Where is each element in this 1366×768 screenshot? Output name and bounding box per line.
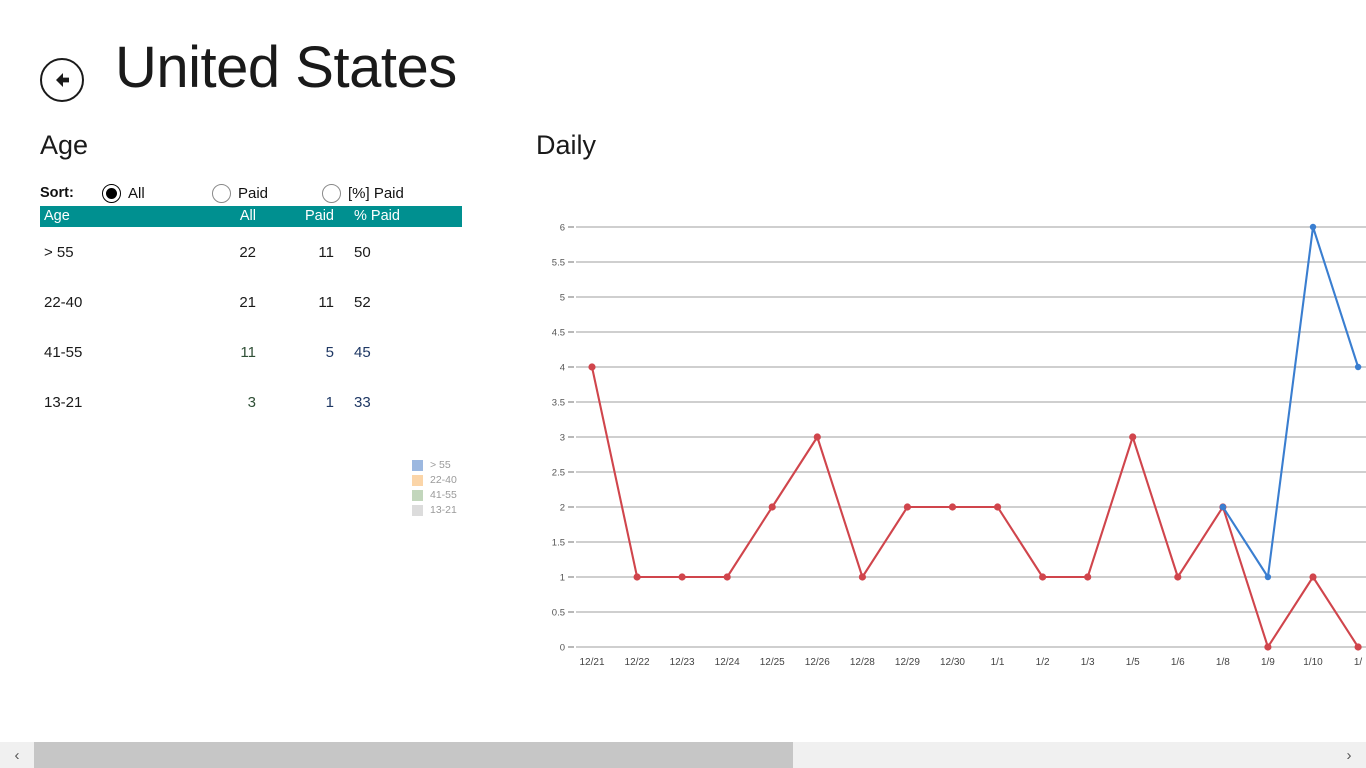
column-header-age[interactable]: Age	[40, 206, 180, 227]
data-point-red[interactable]	[1309, 573, 1316, 580]
y-axis-tick-label: 3.5	[552, 398, 565, 409]
cell-pct-paid: 45	[346, 327, 462, 377]
x-axis-tick-label: 1/	[1354, 657, 1363, 668]
x-axis-tick-label: 1/1	[991, 657, 1005, 668]
cell-age: > 55	[40, 227, 180, 277]
y-axis-tick-label: 4	[560, 363, 565, 374]
data-point-red[interactable]	[724, 573, 731, 580]
sort-option-all[interactable]: All	[102, 184, 212, 203]
legend-label: 22-40	[430, 474, 457, 486]
scroll-left-arrow-icon[interactable]: ‹	[0, 742, 34, 768]
legend-swatch-icon	[412, 475, 423, 486]
y-axis-tick-label: 1.5	[552, 538, 565, 549]
age-section-title: Age	[40, 132, 88, 159]
legend-label: 41-55	[430, 489, 457, 501]
x-axis-tick-label: 1/10	[1303, 657, 1323, 668]
cell-paid: 5	[268, 327, 346, 377]
y-axis-tick-label: 6	[560, 223, 565, 234]
x-axis-tick-label: 1/6	[1171, 657, 1185, 668]
page-title: United States	[115, 36, 457, 100]
x-axis-tick-label: 12/22	[625, 657, 650, 668]
sort-radio-group: Sort: All Paid [%] Paid	[40, 182, 442, 204]
y-axis-tick-label: 5	[560, 293, 565, 304]
back-button[interactable]	[40, 58, 84, 102]
x-axis-tick-label: 1/5	[1126, 657, 1140, 668]
data-point-red[interactable]	[1039, 573, 1046, 580]
sort-option-pct-paid-label: [%] Paid	[348, 185, 404, 202]
sort-option-paid[interactable]: Paid	[212, 184, 322, 203]
daily-line-chart: 00.511.522.533.544.555.5612/2112/2212/23…	[520, 200, 1366, 720]
legend-label: > 55	[430, 459, 451, 471]
data-point-red[interactable]	[1355, 643, 1362, 650]
y-axis-tick-label: 2.5	[552, 468, 565, 479]
y-axis-tick-label: 3	[560, 433, 565, 444]
table-row[interactable]: 41-55 11 5 45	[40, 327, 462, 377]
data-point-red[interactable]	[949, 503, 956, 510]
y-axis-tick-label: 5.5	[552, 258, 565, 269]
data-point-red[interactable]	[904, 503, 911, 510]
legend-item-41-55[interactable]: 41-55	[412, 488, 457, 502]
x-axis-tick-label: 1/8	[1216, 657, 1230, 668]
y-axis-tick-label: 4.5	[552, 328, 565, 339]
legend-item-13-21[interactable]: 13-21	[412, 503, 457, 517]
x-axis-tick-label: 12/29	[895, 657, 920, 668]
data-point-red[interactable]	[1174, 573, 1181, 580]
x-axis-tick-label: 1/2	[1036, 657, 1050, 668]
x-axis-tick-label: 12/23	[670, 657, 695, 668]
cell-age: 13-21	[40, 377, 180, 427]
x-axis-tick-label: 1/3	[1081, 657, 1095, 668]
table-row[interactable]: 13-21 3 1 33	[40, 377, 462, 427]
legend-item-over-55[interactable]: > 55	[412, 458, 457, 472]
x-axis-tick-label: 12/26	[805, 657, 830, 668]
cell-paid: 11	[268, 227, 346, 277]
data-point-red[interactable]	[634, 573, 641, 580]
cell-all: 11	[180, 327, 268, 377]
legend-swatch-icon	[412, 505, 423, 516]
table-row[interactable]: 22-40 21 11 52	[40, 277, 462, 327]
cell-paid: 11	[268, 277, 346, 327]
data-point-red[interactable]	[588, 363, 595, 370]
cell-pct-paid: 50	[346, 227, 462, 277]
age-table-body: > 55 22 11 50 22-40 21 11 52 41-55 11 5 …	[40, 227, 462, 427]
scroll-right-arrow-icon[interactable]: ›	[1332, 742, 1366, 768]
column-header-all[interactable]: All	[180, 206, 268, 227]
age-table-head: Age All Paid % Paid	[40, 206, 462, 227]
y-axis-tick-label: 1	[560, 573, 565, 584]
cell-pct-paid: 33	[346, 377, 462, 427]
sort-option-pct-paid[interactable]: [%] Paid	[322, 184, 442, 203]
cell-age: 41-55	[40, 327, 180, 377]
pie-slice-22-40	[42, 487, 327, 659]
age-table: Age All Paid % Paid > 55 22 11 50 22-40 …	[40, 206, 462, 427]
cell-pct-paid: 52	[346, 277, 462, 327]
column-header-paid[interactable]: Paid	[268, 206, 346, 227]
data-point-red[interactable]	[859, 573, 866, 580]
table-row[interactable]: > 55 22 11 50	[40, 227, 462, 277]
y-axis-tick-label: 0	[560, 643, 565, 654]
scroll-track[interactable]	[34, 742, 1332, 768]
daily-panel: Daily 00.511.522.533.544.555.5612/2112/2…	[520, 120, 1366, 720]
data-point-red[interactable]	[814, 433, 821, 440]
x-axis-tick-label: 12/21	[579, 657, 604, 668]
radio-paid-indicator[interactable]	[212, 184, 231, 203]
sort-label: Sort:	[40, 185, 102, 201]
data-point-blue[interactable]	[1265, 574, 1271, 580]
back-arrow-icon	[50, 68, 74, 92]
data-point-red[interactable]	[679, 573, 686, 580]
data-point-blue[interactable]	[1220, 504, 1226, 510]
sort-option-all-label: All	[128, 185, 145, 202]
cell-all: 21	[180, 277, 268, 327]
data-point-blue[interactable]	[1310, 224, 1316, 230]
data-point-red[interactable]	[769, 503, 776, 510]
sort-option-paid-label: Paid	[238, 185, 268, 202]
page-header: United States	[0, 0, 1366, 120]
legend-swatch-icon	[412, 460, 423, 471]
data-point-red[interactable]	[994, 503, 1001, 510]
scroll-thumb[interactable]	[34, 742, 793, 768]
data-point-blue[interactable]	[1355, 364, 1361, 370]
legend-swatch-icon	[412, 490, 423, 501]
data-point-red[interactable]	[1129, 433, 1136, 440]
cell-all: 3	[180, 377, 268, 427]
radio-pct-paid-indicator[interactable]	[322, 184, 341, 203]
legend-item-22-40[interactable]: 22-40	[412, 473, 457, 487]
daily-chart-title: Daily	[536, 132, 596, 159]
x-axis-tick-label: 12/25	[760, 657, 785, 668]
age-table-header-row: Age All Paid % Paid	[40, 206, 462, 227]
x-axis-tick-label: 1/9	[1261, 657, 1275, 668]
daily-line-chart-svg: 00.511.522.533.544.555.5612/2112/2212/23…	[520, 200, 1366, 720]
horizontal-scrollbar[interactable]: ‹ ›	[0, 742, 1366, 768]
cell-age: 22-40	[40, 277, 180, 327]
column-header-pct-paid[interactable]: % Paid	[346, 206, 462, 227]
app-root: United States Age Sort: All	[0, 0, 1366, 768]
cell-all: 22	[180, 227, 268, 277]
x-axis-tick-label: 12/24	[715, 657, 740, 668]
data-point-red[interactable]	[1264, 643, 1271, 650]
cell-paid: 1	[268, 377, 346, 427]
y-axis-tick-label: 2	[560, 503, 565, 514]
radio-all-indicator[interactable]	[102, 184, 121, 203]
x-axis-tick-label: 12/28	[850, 657, 875, 668]
legend-label: 13-21	[430, 504, 457, 516]
y-axis-tick-label: 0.5	[552, 608, 565, 619]
x-axis-tick-label: 12/30	[940, 657, 965, 668]
data-point-red[interactable]	[1084, 573, 1091, 580]
pie-legend: > 55 22-40 41-55 13-21	[412, 458, 457, 518]
age-panel: Age Sort: All Paid	[0, 120, 520, 720]
